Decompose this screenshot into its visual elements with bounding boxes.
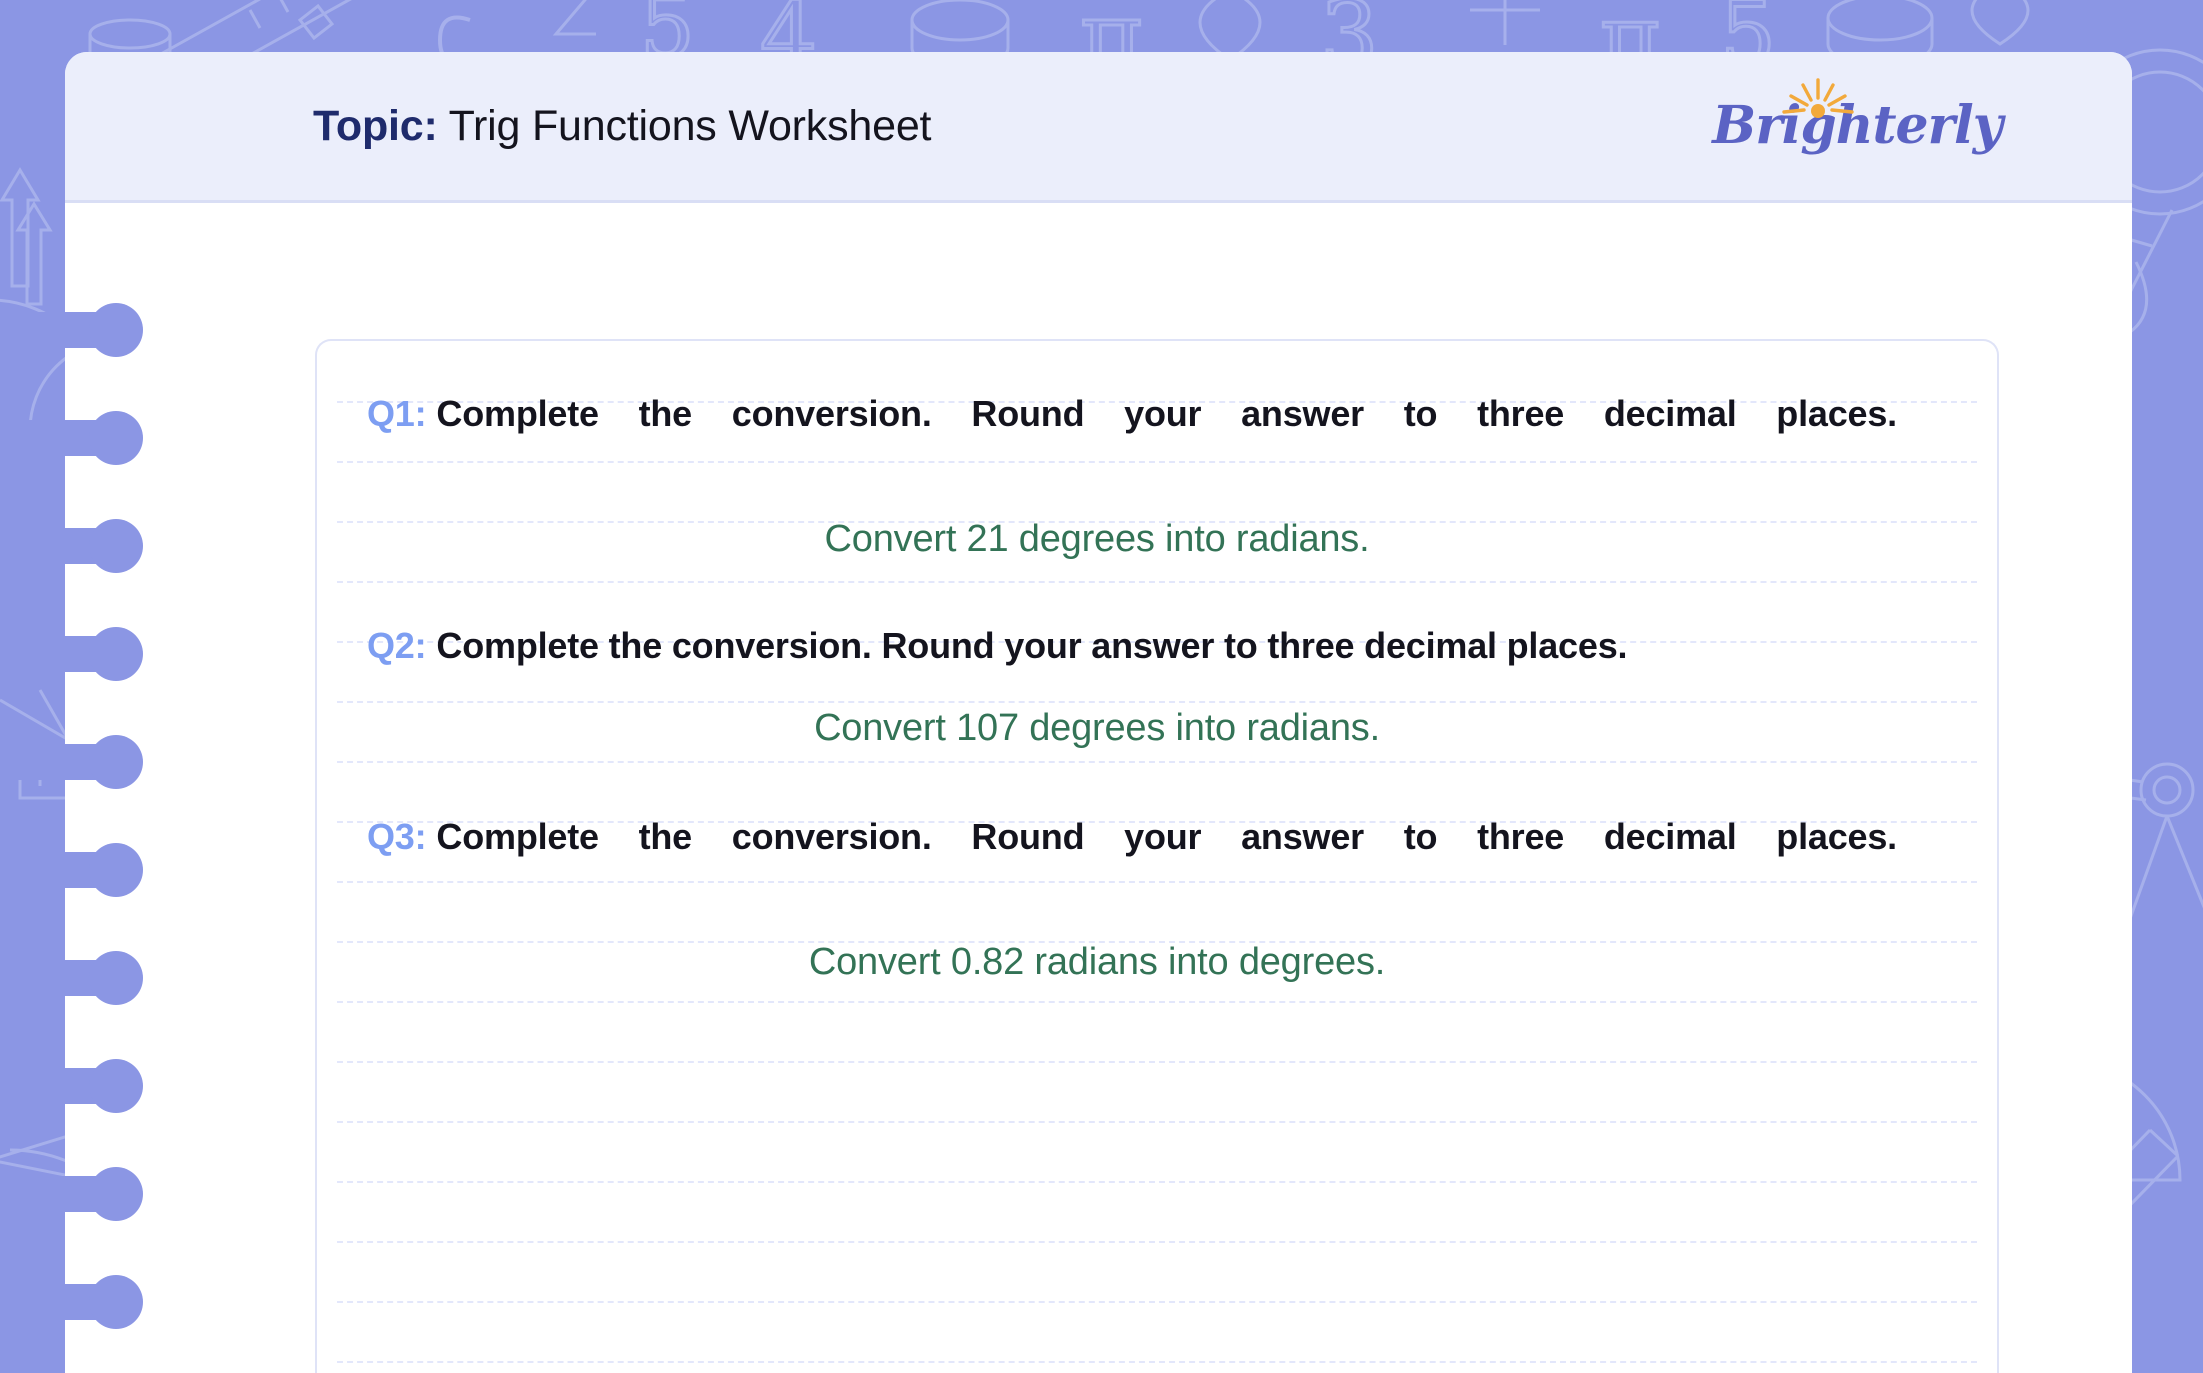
ruled-line bbox=[337, 1001, 1977, 1003]
worksheet-page: Topic: Trig Functions Worksheet Brighter… bbox=[65, 52, 2132, 1373]
questions-list: Q1:Complete the conversion. Round your a… bbox=[317, 341, 1997, 984]
question-block-1: Q1:Complete the conversion. Round your a… bbox=[367, 393, 1897, 561]
question-prompt-3: Q3:Complete the conversion. Round your a… bbox=[367, 816, 1897, 901]
question-label-3: Q3: bbox=[367, 816, 426, 857]
question-prompt-text-2: Complete the conversion. Round your answ… bbox=[436, 625, 1627, 666]
question-prompt-2: Q2:Complete the conversion. Round your a… bbox=[367, 625, 1897, 667]
ruled-line bbox=[337, 1181, 1977, 1183]
question-statement-3: Convert 0.82 radians into degrees. bbox=[367, 941, 1897, 984]
sunburst-icon bbox=[1778, 74, 1858, 132]
question-label-1: Q1: bbox=[367, 393, 426, 434]
worksheet-header: Topic: Trig Functions Worksheet Brighter… bbox=[65, 52, 2132, 203]
ruled-line bbox=[337, 1061, 1977, 1063]
ruled-line bbox=[337, 1241, 1977, 1243]
question-block-3: Q3:Complete the conversion. Round your a… bbox=[367, 816, 1897, 984]
question-prompt-text-3: Complete the conversion. Round your answ… bbox=[436, 816, 1897, 857]
question-statement-1: Convert 21 degrees into radians. bbox=[367, 518, 1897, 561]
question-label-2: Q2: bbox=[367, 625, 426, 666]
ruled-line bbox=[337, 1301, 1977, 1303]
questions-card: Q1:Complete the conversion. Round your a… bbox=[315, 339, 1999, 1373]
question-statement-2: Convert 107 degrees into radians. bbox=[367, 707, 1897, 750]
question-block-2: Q2:Complete the conversion. Round your a… bbox=[367, 625, 1897, 750]
topic-label: Topic: bbox=[313, 102, 438, 150]
page-title: Topic: Trig Functions Worksheet bbox=[313, 102, 931, 151]
question-prompt-1: Q1:Complete the conversion. Round your a… bbox=[367, 393, 1897, 478]
question-prompt-text-1: Complete the conversion. Round your answ… bbox=[436, 393, 1897, 434]
ruled-line bbox=[337, 1361, 1977, 1363]
ruled-line bbox=[337, 1121, 1977, 1123]
topic-value: Trig Functions Worksheet bbox=[449, 102, 932, 150]
brightly-logo[interactable]: Brighterly bbox=[1712, 100, 2002, 152]
